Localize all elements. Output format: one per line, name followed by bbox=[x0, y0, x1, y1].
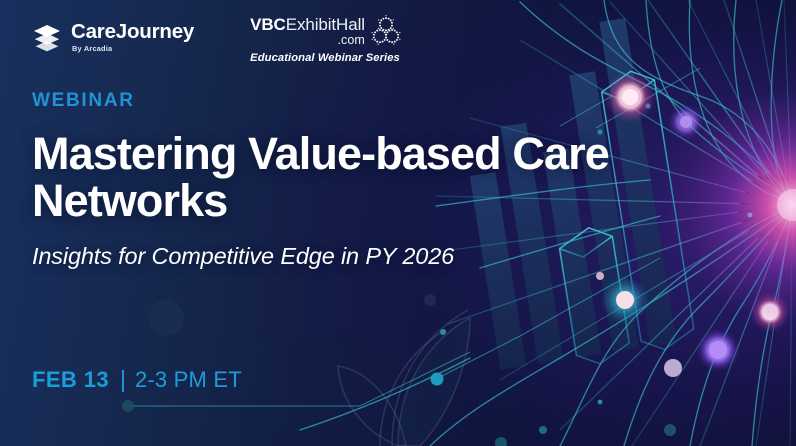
logo-row: CareJourney By Arcadia VBCExhibitHall .c… bbox=[32, 16, 403, 64]
banner-headline: Mastering Value-based Care Networks bbox=[32, 130, 712, 225]
vbc-exhibithall-logo[interactable]: VBCExhibitHall .com bbox=[250, 16, 403, 64]
banner-content: WEBINAR Mastering Value-based Care Netwo… bbox=[32, 90, 712, 270]
eyebrow-label: WEBINAR bbox=[32, 90, 712, 112]
event-time: 2-3 PM ET bbox=[135, 367, 242, 393]
stacked-layers-icon bbox=[32, 22, 62, 52]
carejourney-tagline: By Arcadia bbox=[72, 45, 112, 52]
carejourney-name: CareJourney bbox=[71, 22, 194, 43]
vbc-name-light: ExhibitHall bbox=[286, 15, 365, 34]
vbc-name-bold: VBC bbox=[250, 15, 286, 34]
datetime-separator: | bbox=[120, 366, 126, 393]
dotted-trefoil-icon bbox=[369, 14, 403, 48]
carejourney-logo[interactable]: CareJourney By Arcadia bbox=[32, 16, 194, 52]
vbc-name: VBCExhibitHall bbox=[250, 16, 365, 33]
event-date: FEB 13 bbox=[32, 367, 109, 393]
decorative-outline-shapes bbox=[338, 294, 470, 446]
banner-subheadline: Insights for Competitive Edge in PY 2026 bbox=[32, 243, 712, 270]
event-datetime: FEB 13 | 2-3 PM ET bbox=[32, 366, 242, 393]
webinar-promo-banner: CareJourney By Arcadia VBCExhibitHall .c… bbox=[0, 0, 796, 446]
vbc-domain-suffix: .com bbox=[337, 34, 365, 47]
vbc-tagline: Educational Webinar Series bbox=[250, 52, 400, 64]
